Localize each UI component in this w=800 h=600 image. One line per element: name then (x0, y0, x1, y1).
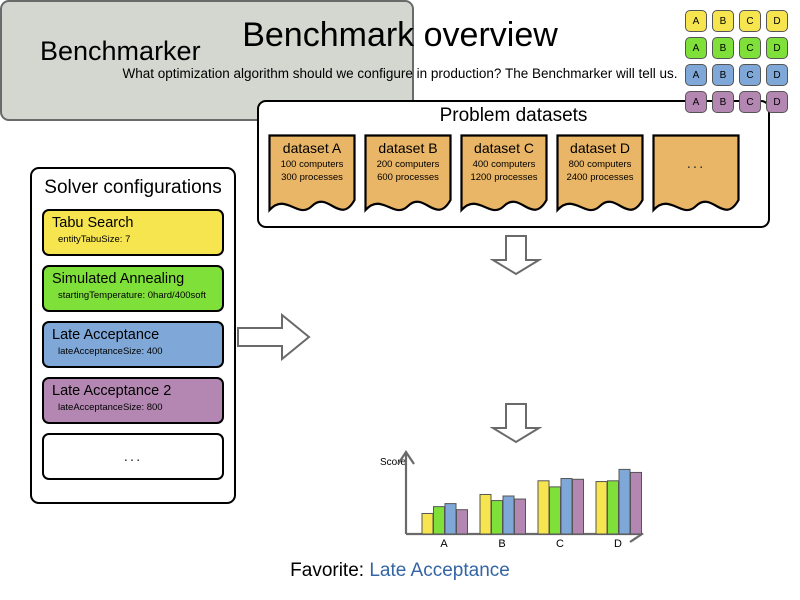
chart-bar (445, 504, 456, 534)
result-chip[interactable]: A (685, 64, 707, 86)
result-chip[interactable]: B (712, 37, 734, 59)
benchmarker-label: Benchmarker (40, 36, 201, 67)
chart-bar (619, 469, 630, 534)
dataset-name: dataset D (556, 139, 644, 158)
result-chip[interactable]: A (685, 91, 707, 113)
result-chip[interactable]: A (685, 37, 707, 59)
favorite-value: Late Acceptance (369, 560, 510, 581)
problem-dataset-list: dataset A 100 computers 300 processes da… (268, 134, 740, 220)
chart-x-tick-label: D (614, 538, 622, 550)
chart-bar (492, 501, 503, 534)
benchmark-bar-chart: ABCD (378, 448, 654, 552)
solver-config-param: lateAcceptanceSize: 800 (52, 401, 222, 414)
benchmark-result-grid: A B C D A B C D A B C D A B C D (685, 10, 788, 113)
result-chip[interactable]: D (766, 10, 788, 32)
solver-config-param: startingTemperature: 0hard/400soft (52, 289, 222, 302)
dataset-card-c[interactable]: dataset C 400 computers 1200 processes (460, 134, 548, 220)
result-chip[interactable]: C (739, 64, 761, 86)
result-chip[interactable]: A (685, 10, 707, 32)
favorite-label: Favorite: (290, 560, 364, 581)
chart-x-tick-label: C (556, 538, 564, 550)
chart-bar (503, 496, 514, 534)
dataset-name: dataset C (460, 139, 548, 158)
chart-bar (515, 499, 526, 534)
chart-bar (538, 481, 549, 534)
chart-bar (561, 479, 572, 534)
chart-bar (422, 513, 433, 534)
dataset-processes: 2400 processes (556, 171, 644, 184)
chart-bar (550, 487, 561, 534)
dataset-card-more[interactable]: ... (652, 134, 740, 220)
result-chip[interactable]: C (739, 37, 761, 59)
chart-bar (434, 507, 445, 534)
dataset-processes: 300 processes (268, 171, 356, 184)
dataset-computers: 800 computers (556, 158, 644, 171)
result-chip[interactable]: D (766, 64, 788, 86)
solver-config-card-more[interactable]: ... (42, 433, 224, 480)
result-chip[interactable]: D (766, 91, 788, 113)
solver-config-card-simulated-annealing[interactable]: Simulated Annealing startingTemperature:… (42, 265, 224, 312)
solver-configuration-list: Tabu Search entityTabuSize: 7 Simulated … (42, 209, 224, 489)
dataset-name: dataset A (268, 139, 356, 158)
dataset-card-text: dataset A 100 computers 300 processes (268, 134, 356, 184)
chart-bar (596, 482, 607, 534)
arrow-down-icon (490, 234, 542, 276)
dataset-computers: 100 computers (268, 158, 356, 171)
solver-configurations-title: Solver configurations (32, 177, 234, 199)
ellipsis-icon: ... (124, 448, 143, 465)
ellipsis-icon: ... (652, 139, 740, 189)
chart-bar (573, 479, 584, 534)
chart-x-tick-labels: ABCD (440, 538, 622, 550)
chart-bar (631, 472, 642, 534)
chart-bar (608, 481, 619, 534)
dataset-computers: 400 computers (460, 158, 548, 171)
solver-config-name: Simulated Annealing (52, 270, 222, 289)
page-subtitle: What optimization algorithm should we co… (0, 66, 800, 81)
solver-config-name: Late Acceptance 2 (52, 382, 222, 401)
dataset-card-text: ... (652, 134, 740, 189)
arrow-down-icon (490, 402, 542, 444)
result-chip[interactable]: C (739, 10, 761, 32)
solver-config-card-late-acceptance[interactable]: Late Acceptance lateAcceptanceSize: 400 (42, 321, 224, 368)
solver-config-card-tabu-search[interactable]: Tabu Search entityTabuSize: 7 (42, 209, 224, 256)
dataset-processes: 600 processes (364, 171, 452, 184)
solver-config-param: lateAcceptanceSize: 400 (52, 345, 222, 358)
dataset-name: dataset B (364, 139, 452, 158)
solver-config-name: Late Acceptance (52, 326, 222, 345)
favorite-line: Favorite: Late Acceptance (0, 560, 800, 582)
arrow-right-icon (236, 312, 312, 362)
dataset-card-text: dataset B 200 computers 600 processes (364, 134, 452, 184)
result-chip[interactable]: B (712, 10, 734, 32)
chart-bar (480, 494, 491, 534)
solver-configurations-panel: Solver configurations Tabu Search entity… (30, 167, 236, 504)
solver-config-name: Tabu Search (52, 214, 222, 233)
solver-config-card-late-acceptance-2[interactable]: Late Acceptance 2 lateAcceptanceSize: 80… (42, 377, 224, 424)
chart-x-tick-label: B (498, 538, 505, 550)
dataset-card-text: dataset C 400 computers 1200 processes (460, 134, 548, 184)
dataset-processes: 1200 processes (460, 171, 548, 184)
chart-x-tick-label: A (440, 538, 448, 550)
result-chip[interactable]: D (766, 37, 788, 59)
problem-datasets-panel: Problem datasets dataset A 100 computers… (257, 100, 770, 228)
chart-bar (457, 510, 468, 534)
chart-bars (422, 469, 642, 534)
dataset-card-b[interactable]: dataset B 200 computers 600 processes (364, 134, 452, 220)
solver-config-param: entityTabuSize: 7 (52, 233, 222, 246)
result-chip[interactable]: C (739, 91, 761, 113)
dataset-card-a[interactable]: dataset A 100 computers 300 processes (268, 134, 356, 220)
result-chip[interactable]: B (712, 64, 734, 86)
result-chip[interactable]: B (712, 91, 734, 113)
dataset-computers: 200 computers (364, 158, 452, 171)
dataset-card-text: dataset D 800 computers 2400 processes (556, 134, 644, 184)
dataset-card-d[interactable]: dataset D 800 computers 2400 processes (556, 134, 644, 220)
